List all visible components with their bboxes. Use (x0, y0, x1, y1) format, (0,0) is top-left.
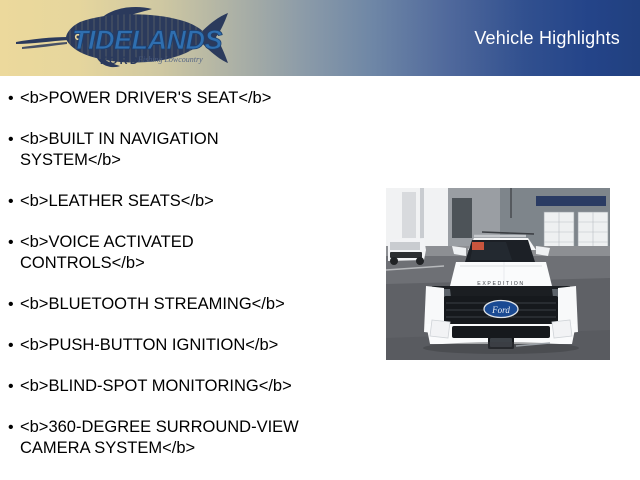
vehicle-photo-image: EXPEDITION Ford (386, 188, 610, 360)
vehicle-highlights-list: •<b>POWER DRIVER'S SEAT</b>•<b>BUILT IN … (0, 88, 372, 479)
bullet-icon: • (8, 335, 20, 356)
highlight-item: •<b>POWER DRIVER'S SEAT</b> (0, 88, 372, 109)
bullet-icon: • (8, 294, 20, 315)
header-divider (0, 76, 640, 77)
bullet-icon: • (8, 376, 20, 397)
page-title: Vehicle Highlights (474, 0, 620, 76)
highlight-item-label: <b>VOICE ACTIVATED CONTROLS</b> (20, 232, 372, 274)
bullet-icon: • (8, 191, 20, 212)
vehicle-photo[interactable]: EXPEDITION Ford (386, 188, 610, 360)
highlight-item-label: <b>BUILT IN NAVIGATION SYSTEM</b> (20, 129, 372, 171)
bullet-icon: • (8, 417, 20, 438)
logo-brand-text: TIDELANDS (72, 25, 222, 55)
highlight-item-label: <b>LEATHER SEATS</b> (20, 191, 372, 212)
logo-script-text: Fishing Lowcountry (137, 55, 203, 64)
svg-text:Ford: Ford (491, 305, 510, 315)
bullet-icon: • (8, 88, 20, 109)
highlight-item: •<b>VOICE ACTIVATED CONTROLS</b> (0, 232, 372, 274)
bullet-icon: • (8, 129, 20, 150)
highlight-item: •<b>LEATHER SEATS</b> (0, 191, 372, 212)
highlight-item: •<b>360-DEGREE SURROUND-VIEW CAMERA SYST… (0, 417, 372, 459)
logo-sub-text: FORD (100, 55, 140, 67)
marlin-fish-icon: TIDELANDS FORD Fishing Lowcountry (12, 6, 232, 72)
vehicle-highlights-slide: TIDELANDS FORD Fishing Lowcountry Vehicl… (0, 0, 640, 480)
highlight-item: •<b>BLUETOOTH STREAMING</b> (0, 294, 372, 315)
highlight-item: •<b>BLIND-SPOT MONITORING</b> (0, 376, 372, 397)
header-banner: TIDELANDS FORD Fishing Lowcountry Vehicl… (0, 0, 640, 76)
highlight-item: •<b>BUILT IN NAVIGATION SYSTEM</b> (0, 129, 372, 171)
highlight-item-label: <b>POWER DRIVER'S SEAT</b> (20, 88, 372, 109)
highlight-item-label: <b>BLUETOOTH STREAMING</b> (20, 294, 372, 315)
bullet-icon: • (8, 232, 20, 253)
highlight-item: •<b>PUSH-BUTTON IGNITION</b> (0, 335, 372, 356)
highlight-item-label: <b>360-DEGREE SURROUND-VIEW CAMERA SYSTE… (20, 417, 372, 459)
highlight-item-label: <b>BLIND-SPOT MONITORING</b> (20, 376, 372, 397)
tidelands-ford-logo: TIDELANDS FORD Fishing Lowcountry (12, 6, 232, 72)
highlight-item-label: <b>PUSH-BUTTON IGNITION</b> (20, 335, 372, 356)
